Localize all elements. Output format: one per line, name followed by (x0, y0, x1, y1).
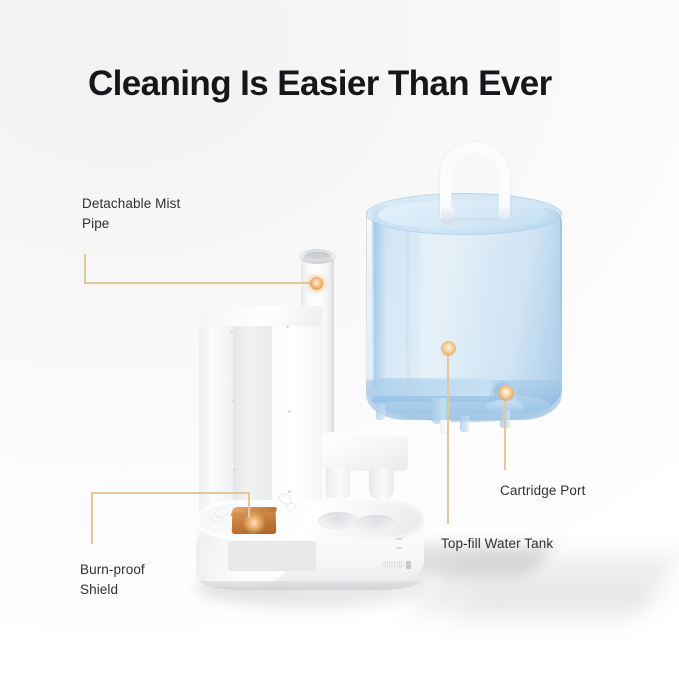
burn-proof-shield-glow (243, 512, 265, 534)
tank-edge-highlight (367, 212, 372, 402)
base-foot (200, 581, 420, 590)
marker-dot-cartridge-port (498, 385, 514, 401)
base-well-right (356, 515, 396, 533)
shell-screw (288, 490, 291, 493)
leader-line-mist-vertical (84, 254, 86, 283)
tank-pipe-stub (440, 420, 450, 434)
connector-prong-right (369, 468, 394, 500)
body-shell-face (232, 306, 272, 528)
marker-dot-mist-pipe (310, 277, 323, 290)
leader-line-mist-horizontal (84, 282, 312, 284)
marker-dot-water-tank (441, 341, 456, 356)
callout-label-cartridge-port: Cartridge Port (500, 481, 585, 501)
leader-line-shield-drop (248, 492, 250, 518)
base-well-left (318, 512, 358, 530)
callout-label-top-fill-water-tank: Top-fill Water Tank (441, 534, 553, 554)
leader-line-water-tank (447, 352, 449, 524)
mist-pipe-nozzle (310, 253, 325, 259)
base-indicator-mark (396, 538, 402, 540)
leader-line-shield-vertical (91, 492, 93, 544)
shell-screw (288, 410, 291, 413)
infographic-canvas: Cleaning Is Easier Than Ever (0, 0, 679, 679)
leader-line-cartridge-port (504, 398, 506, 470)
shell-screw (232, 400, 235, 403)
shell-screw (233, 468, 236, 471)
body-shell-top-edge (196, 306, 325, 326)
shell-screw (230, 330, 233, 333)
leader-line-shield-horizontal (91, 492, 249, 494)
tank-handle-peg-right (498, 206, 510, 220)
callout-label-burn-proof-shield: Burn-proof Shield (80, 560, 145, 600)
tank-gloss-highlight (420, 214, 516, 384)
base-power-port (406, 561, 411, 569)
tank-inner-spine (374, 206, 386, 398)
connector-prong-left (326, 468, 350, 498)
tank-shadow-2 (454, 590, 671, 620)
tank-foot-left (376, 404, 385, 420)
tank-handle-peg-left (441, 206, 455, 224)
connector-body (322, 437, 408, 471)
callout-label-detachable-mist-pipe: Detachable Mist Pipe (82, 194, 180, 234)
base-side-vent (382, 561, 404, 568)
shell-screw (286, 325, 289, 328)
vent-grille (228, 541, 316, 571)
base-indicator-mark (396, 547, 402, 549)
body-shell-left (199, 318, 233, 530)
tank-foot-right (460, 416, 469, 432)
